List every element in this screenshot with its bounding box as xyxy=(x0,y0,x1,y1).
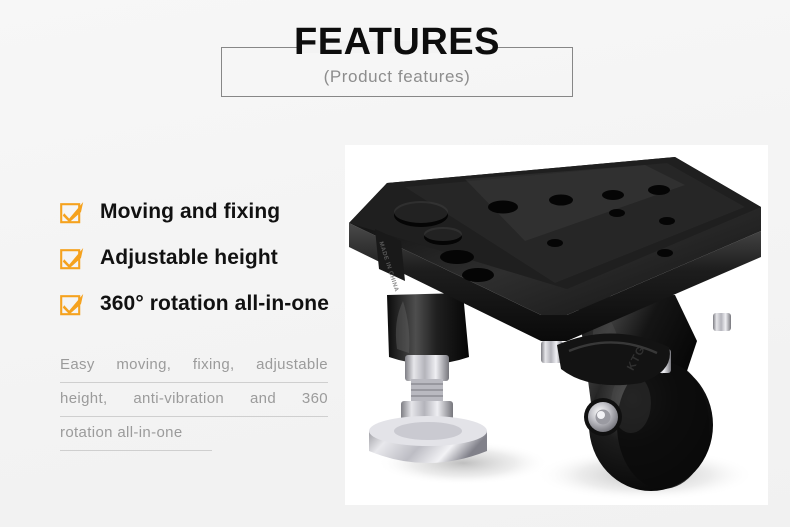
page-title: FEATURES xyxy=(221,19,573,65)
description-word: and xyxy=(250,389,276,409)
description-word: 360 xyxy=(302,389,328,409)
product-photo xyxy=(345,145,768,505)
feature-item-adjustable-height: Adjustable height xyxy=(60,244,345,272)
product-image-panel: KTG MADE IN CHINA xyxy=(345,145,768,505)
checkbox-checked-icon xyxy=(60,200,84,224)
feature-item-360-rotation: 360° rotation all-in-one xyxy=(60,290,345,318)
feature-label: Adjustable height xyxy=(100,245,278,271)
description-word: anti-vibration xyxy=(133,389,224,409)
feature-label: 360° rotation all-in-one xyxy=(100,291,329,317)
description-line: rotation all-in-one xyxy=(60,423,212,451)
page-subtitle: (Product features) xyxy=(221,65,573,89)
checkbox-checked-icon xyxy=(60,292,84,316)
description-block: Easy moving, fixing, adjustable height, … xyxy=(60,355,328,457)
description-word: Easy xyxy=(60,355,95,375)
description-word: fixing, xyxy=(193,355,235,375)
description-line: Easy moving, fixing, adjustable xyxy=(60,355,328,383)
description-line: height, anti-vibration and 360 xyxy=(60,389,328,417)
feature-list: Moving and fixing Adjustable height 360°… xyxy=(60,198,345,336)
description-word: height, xyxy=(60,389,108,409)
description-word: adjustable xyxy=(256,355,328,375)
feature-item-moving-and-fixing: Moving and fixing xyxy=(60,198,345,226)
features-page: FEATURES (Product features) Moving and f… xyxy=(0,0,790,527)
section-header: FEATURES (Product features) xyxy=(221,47,573,97)
description-word: moving, xyxy=(116,355,171,375)
feature-label: Moving and fixing xyxy=(100,199,280,225)
checkbox-checked-icon xyxy=(60,246,84,270)
